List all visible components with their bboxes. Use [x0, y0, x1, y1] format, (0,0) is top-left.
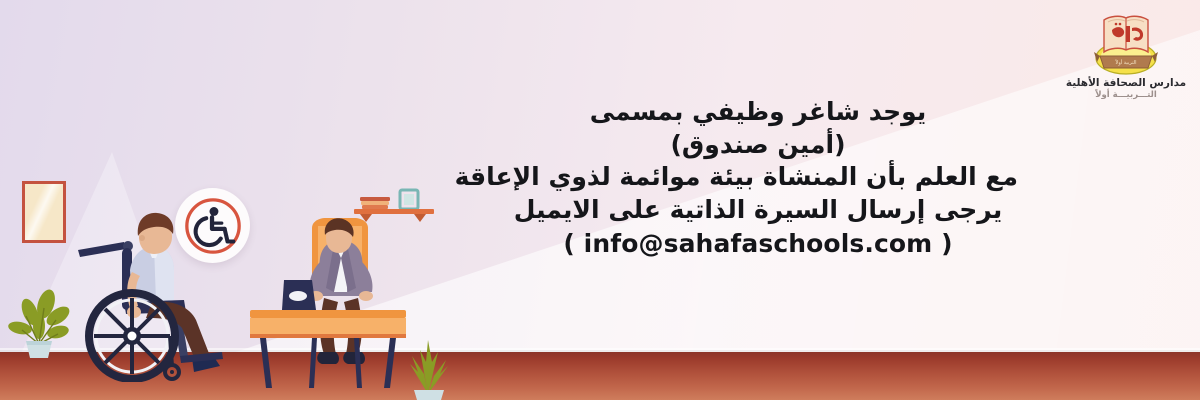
copy-line-1: يوجد شاغر وظيفي بمسمى [498, 96, 1018, 129]
copy-line-4: يرجى إرسال السيرة الذاتية على الايميل [498, 194, 1018, 227]
logo-tagline: التـــربيـــة أولاً [1064, 90, 1188, 100]
vacancy-copy: يوجد شاغر وظيفي بمسمى (أمين صندوق) مع ال… [498, 96, 1018, 261]
job-vacancy-banner: يوجد شاغر وظيفي بمسمى (أمين صندوق) مع ال… [0, 0, 1200, 400]
logo-ribbon-text: التربية أولاً [1115, 58, 1137, 66]
school-logo: التربية أولاً مدارس الصحافة الأهلية التـ… [1064, 4, 1188, 100]
man-in-wheelchair-illustration [60, 196, 240, 382]
logo-school-name: مدارس الصحافة الأهلية [1064, 77, 1188, 89]
frame-glass-shine [25, 184, 63, 240]
copy-line-3: مع العلم بأن المنشاة بيئة موائمة لذوي ال… [498, 161, 1018, 194]
potted-plant-right [398, 330, 458, 400]
copy-line-2: (أمين صندوق) [498, 129, 1018, 162]
school-logo-mark: التربية أولاً [1064, 4, 1188, 76]
copy-email-line[interactable]: ( info@sahafaschools.com ) [498, 228, 1018, 261]
